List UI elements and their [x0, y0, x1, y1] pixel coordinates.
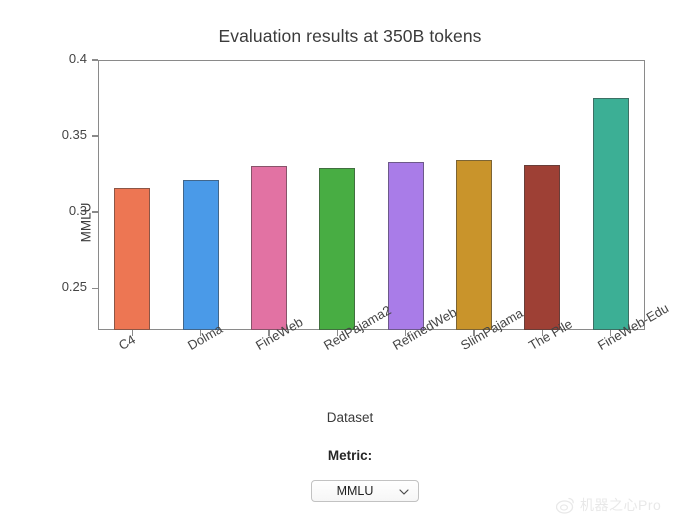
chart-app: Evaluation results at 350B tokens MMLU 0…	[0, 0, 700, 526]
chart-title: Evaluation results at 350B tokens	[0, 26, 700, 47]
bar[interactable]	[388, 162, 424, 330]
metric-select-value: MMLU	[312, 484, 398, 498]
bar[interactable]	[251, 166, 287, 330]
bar[interactable]	[319, 168, 355, 330]
bar[interactable]	[524, 165, 560, 330]
x-tick-label: C4	[116, 332, 138, 353]
plot-frame	[98, 60, 645, 330]
weibo-logo-icon	[556, 496, 576, 514]
y-tick-mark	[92, 59, 98, 60]
watermark-text: 机器之心Pro	[580, 495, 661, 515]
y-tick-label: 0.4	[69, 51, 87, 66]
y-tick-mark	[92, 135, 98, 136]
bar[interactable]	[183, 180, 219, 330]
metric-select[interactable]: MMLU	[311, 480, 419, 502]
watermark: 机器之心Pro	[556, 493, 690, 517]
x-axis-label: Dataset	[0, 410, 700, 425]
y-axis-label: MMLU	[79, 163, 94, 283]
bar[interactable]	[593, 98, 629, 330]
bar[interactable]	[114, 188, 150, 330]
y-tick-label: 0.3	[69, 203, 87, 218]
chevron-down-icon	[399, 487, 409, 497]
y-tick-label: 0.35	[62, 127, 87, 142]
y-tick-mark	[92, 211, 98, 212]
metric-select-wrapper: MMLU	[311, 480, 419, 502]
y-tick-mark	[92, 288, 98, 289]
bar[interactable]	[456, 160, 492, 330]
y-tick-label: 0.25	[62, 279, 87, 294]
metric-field-label: Metric:	[0, 448, 700, 463]
plot-area: MMLU 0.250.30.350.4 C4DolmaFineWebRedPaj…	[98, 60, 645, 330]
